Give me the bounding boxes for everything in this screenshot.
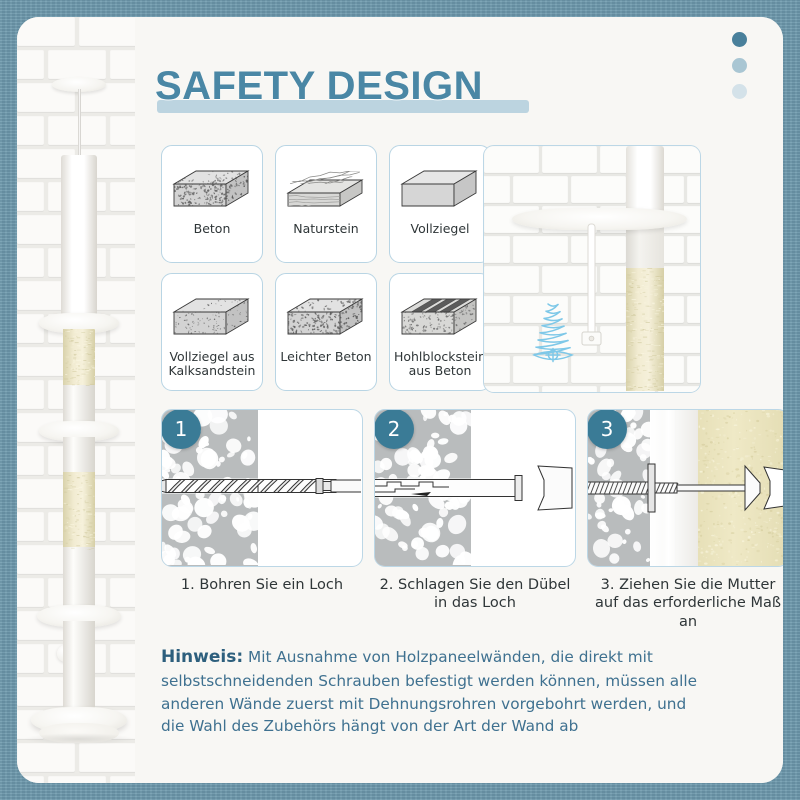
material-card-hohlblockstein: Hohlblockstein aus Beton	[389, 273, 491, 391]
step-2-figure: 2	[374, 409, 576, 567]
outer-frame: SAFETY DESIGN Beton Naturstein	[0, 0, 800, 800]
sisal-fiber-texture	[63, 472, 95, 550]
content-panel: SAFETY DESIGN Beton Naturstein	[17, 17, 783, 783]
installation-steps: 1 1. Bohren Sie ein Loch 2 2. Schlagen S…	[161, 409, 783, 631]
note-block: Hinweis: Mit Ausnahme von Holzpaneelwänd…	[161, 645, 703, 738]
pole-mid-3	[63, 547, 95, 612]
material-label: Beton	[191, 222, 234, 236]
material-card-leichter-beton: Leichter Beton	[275, 273, 377, 391]
material-label: Leichter Beton	[277, 350, 374, 364]
step-3-caption: 3. Ziehen Sie die Mutter auf das erforde…	[587, 576, 783, 631]
step-3: 3 3. Ziehen Sie die Mutter auf das erfor…	[587, 409, 783, 631]
pole-upper	[61, 155, 97, 323]
material-card-beton: Beton	[161, 145, 263, 263]
dot-dark-icon	[732, 32, 747, 47]
step-1-caption: 1. Bohren Sie ein Loch	[161, 576, 363, 594]
block-icon-hollow	[394, 282, 486, 350]
material-label: Vollziegel aus Kalksandstein	[162, 350, 262, 379]
note-label: Hinweis:	[161, 647, 243, 667]
block-icon-rough	[280, 154, 372, 222]
block-icon-plain	[394, 154, 486, 222]
pole-mid-2	[63, 437, 95, 477]
product-photo-cat-tree	[17, 17, 149, 783]
ground-shadow	[23, 733, 135, 745]
pole-lower	[63, 621, 95, 717]
step-2-caption: 2. Schlagen Sie den Dübel in das Loch	[374, 576, 576, 613]
block-icon-speckled	[166, 154, 258, 222]
step-3-badge: 3	[587, 409, 627, 449]
block-icon-fine-speckled	[166, 282, 258, 350]
dot-medium-icon	[732, 58, 747, 73]
page-title: SAFETY DESIGN	[155, 64, 483, 109]
step-1: 1 1. Bohren Sie ein Loch	[161, 409, 363, 631]
tension-rod	[78, 89, 81, 157]
material-row-2: Vollziegel aus Kalksandstein Leichter Be…	[161, 273, 491, 391]
step-1-badge: 1	[161, 409, 201, 449]
material-row-1: Beton Naturstein Vollziegel	[161, 145, 491, 263]
material-card-kalksandstein: Vollziegel aus Kalksandstein	[161, 273, 263, 391]
sisal-fiber-texture	[63, 329, 95, 387]
step-3-figure: 3	[587, 409, 783, 567]
page-title-wrap: SAFETY DESIGN	[155, 64, 483, 109]
material-card-grid: Beton Naturstein Vollziegel Vollziegel a…	[161, 145, 491, 401]
step-2-badge: 2	[374, 409, 414, 449]
screw-illustration-icon	[530, 298, 576, 388]
dot-light-icon	[732, 84, 747, 99]
decorative-dots	[732, 32, 747, 110]
material-card-vollziegel: Vollziegel	[389, 145, 491, 263]
wall-mount-photo	[483, 145, 701, 393]
main-content: SAFETY DESIGN Beton Naturstein	[135, 17, 783, 783]
block-icon-speckled-2	[280, 282, 372, 350]
material-label: Naturstein	[290, 222, 361, 236]
material-label: Hohlblockstein aus Beton	[390, 350, 490, 379]
mounting-bracket-icon	[562, 220, 682, 370]
material-card-naturstein: Naturstein	[275, 145, 377, 263]
step-1-figure: 1	[161, 409, 363, 567]
material-label: Vollziegel	[408, 222, 473, 236]
step-2: 2 2. Schlagen Sie den Dübel in das Loch	[374, 409, 576, 631]
